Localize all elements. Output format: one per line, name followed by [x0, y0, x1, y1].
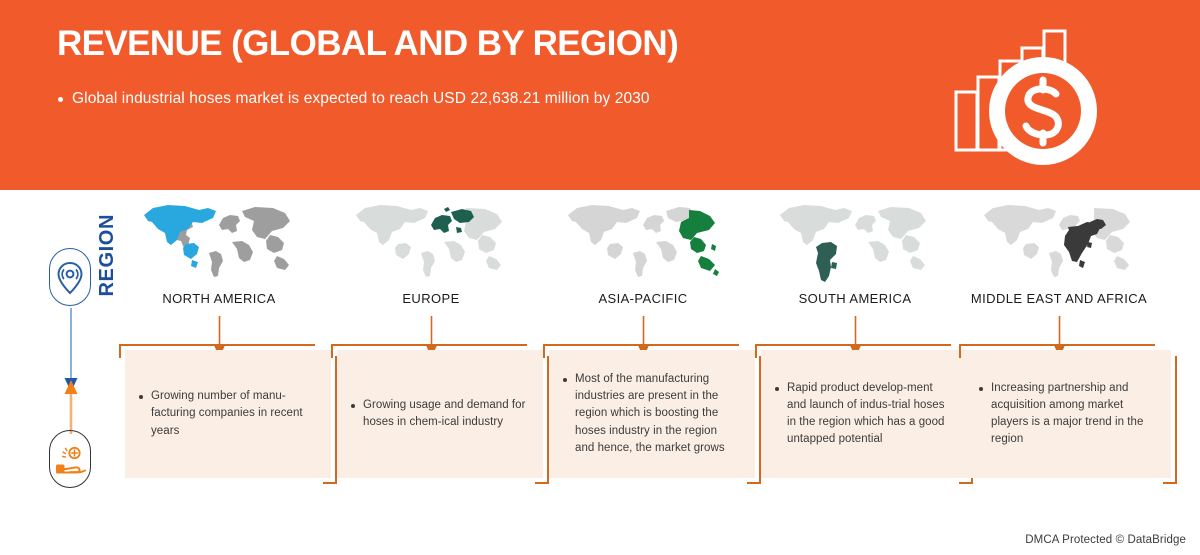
- trend-up-arrow-icon: [62, 378, 80, 434]
- region-column-middle-east-africa[interactable]: MIDDLE EAST AND AFRICA: [955, 198, 1163, 306]
- region-name-label: ASIA-PACIFIC: [539, 291, 747, 306]
- bullet-dot-icon: [979, 387, 983, 391]
- trend-text: Most of the manufacturing industries are…: [575, 371, 739, 456]
- region-name-label: MIDDLE EAST AND AFRICA: [955, 291, 1163, 306]
- world-map-asia-pacific-icon: [558, 198, 728, 284]
- bullet-dot-icon: [139, 395, 143, 399]
- bar-chart-dollar-coin-icon: [938, 14, 1138, 179]
- world-map-europe-icon: [346, 198, 516, 284]
- trend-card[interactable]: Growing number of manu-facturing compani…: [125, 350, 331, 478]
- region-name-label: EUROPE: [327, 291, 535, 306]
- world-map-south-america-icon: [770, 198, 940, 284]
- trend-card[interactable]: Increasing partnership and acquisition a…: [965, 350, 1171, 478]
- bullet-dot-icon: [775, 387, 779, 391]
- hand-holding-coin-icon: [49, 430, 91, 488]
- header-banner: REVENUE (GLOBAL AND BY REGION) Global in…: [0, 0, 1200, 190]
- world-map-north-america-icon: [134, 198, 304, 284]
- card-bracket-bottom-right: [323, 356, 337, 484]
- bullet-dot-icon: [563, 378, 567, 382]
- region-column-asia-pacific[interactable]: ASIA-PACIFIC: [539, 198, 747, 306]
- card-bracket-bottom-right: [747, 356, 761, 484]
- bullet-dot-icon: [58, 97, 63, 102]
- trend-text: Growing number of manu-facturing compani…: [151, 388, 315, 439]
- header-subtitle-row: Global industrial hoses market is expect…: [58, 88, 898, 110]
- header-subtitle: Global industrial hoses market is expect…: [72, 88, 650, 110]
- trend-card[interactable]: Growing usage and demand for hoses in ch…: [337, 350, 543, 478]
- trend-text: Growing usage and demand for hoses in ch…: [363, 397, 527, 431]
- content-area: REGION: [0, 190, 1200, 555]
- region-column-south-america[interactable]: SOUTH AMERICA: [751, 198, 959, 306]
- region-name-label: NORTH AMERICA: [115, 291, 323, 306]
- region-column-europe[interactable]: EUROPE: [327, 198, 535, 306]
- world-map-middle-east-africa-icon: [974, 198, 1144, 284]
- trend-card[interactable]: Most of the manufacturing industries are…: [549, 350, 755, 478]
- trend-text: Increasing partnership and acquisition a…: [991, 380, 1155, 448]
- trend-text: Rapid product develop-ment and launch of…: [787, 380, 951, 448]
- card-bracket-bottom-right: [535, 356, 549, 484]
- card-bracket-bottom-right: [1163, 356, 1177, 484]
- trend-card[interactable]: Rapid product develop-ment and launch of…: [761, 350, 967, 478]
- location-pin-icon: [49, 248, 91, 306]
- page-title: REVENUE (GLOBAL AND BY REGION): [57, 24, 678, 64]
- footer-credit: DMCA Protected © DataBridge: [1025, 534, 1186, 546]
- bullet-dot-icon: [351, 404, 355, 408]
- region-column-north-america[interactable]: NORTH AMERICA: [115, 198, 323, 306]
- region-name-label: SOUTH AMERICA: [751, 291, 959, 306]
